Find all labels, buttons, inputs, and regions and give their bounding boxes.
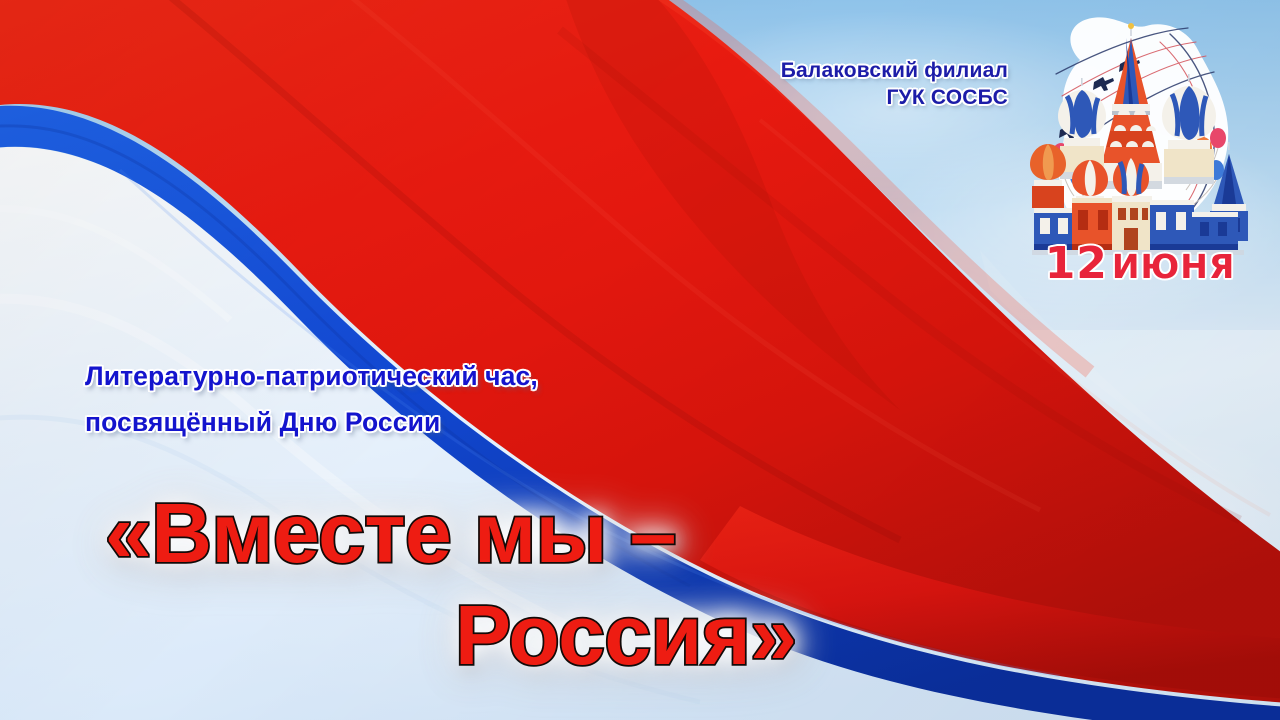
subtitle-line-2: посвящённый Дню России [85,400,725,446]
title-line-1: «Вместе мы – [0,482,810,584]
holiday-date-label: 12июня [1020,238,1260,289]
organization-name: Балаковский филиал ГУК СОСБС [781,58,1008,112]
event-subtitle: Литературно-патриотический час, посвящён… [85,354,725,445]
date-day: 12 [1045,238,1108,289]
event-title: «Вместе мы – Россия» [0,482,810,687]
poster-canvas: Балаковский филиал ГУК СОСБС [0,0,1280,720]
date-month: июня [1112,247,1235,286]
subtitle-line-1: Литературно-патриотический час, [85,354,725,400]
title-line-2: Россия» [0,584,810,686]
